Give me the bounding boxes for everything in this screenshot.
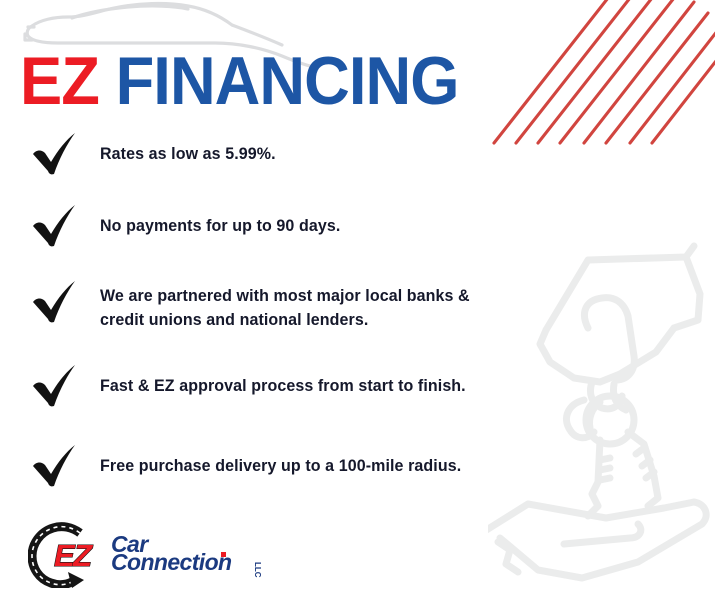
diagonal-stripes-icon bbox=[480, 0, 715, 150]
hands-exchanging-keys-icon bbox=[488, 232, 715, 600]
page-title-main: FINANCING bbox=[99, 43, 459, 119]
logo-i-dot bbox=[221, 552, 226, 557]
check-icon bbox=[30, 202, 80, 252]
check-icon bbox=[30, 278, 80, 328]
logo-ez-text: EZ bbox=[54, 540, 91, 571]
list-item-label: No payments for up to 90 days. bbox=[100, 214, 517, 238]
page-title-accent: EZ bbox=[20, 43, 99, 119]
check-icon bbox=[30, 362, 80, 412]
check-icon bbox=[30, 130, 80, 180]
check-icon bbox=[30, 442, 80, 492]
list-item-label: We are partnered with most major local b… bbox=[100, 284, 517, 332]
logo-llc-suffix: LLC bbox=[253, 562, 261, 578]
logo-word-connection: Connection bbox=[111, 551, 232, 574]
list-item-label: Rates as low as 5.99%. bbox=[100, 142, 517, 166]
list-item-label: Fast & EZ approval process from start to… bbox=[100, 374, 517, 398]
ez-financing-poster: EZ FINANCING Rates as low as 5.99%. No p… bbox=[0, 0, 715, 600]
list-item-label: Free purchase delivery up to a 100-mile … bbox=[100, 454, 517, 478]
page-title: EZ FINANCING bbox=[20, 47, 459, 115]
company-logo[interactable]: EZ Car Connection LLC bbox=[28, 516, 288, 592]
